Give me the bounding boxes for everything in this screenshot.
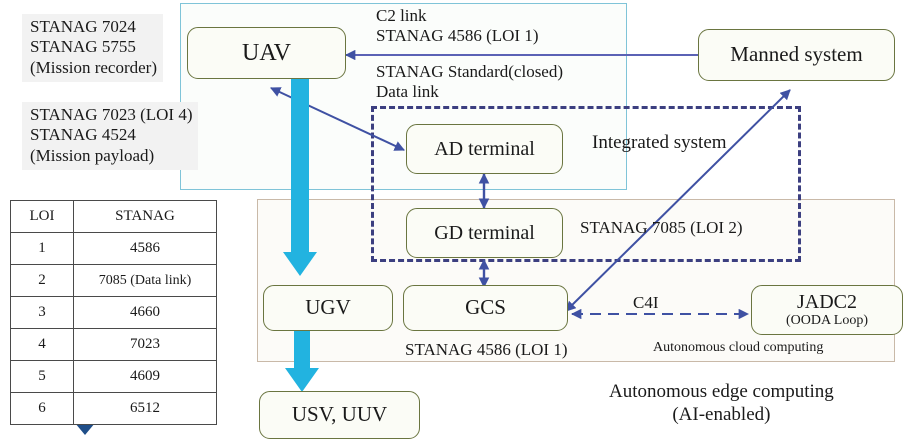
cell-stanag: 4660 [74,297,217,329]
node-usv-uuv[interactable]: USV, UUV [259,391,420,439]
table-row: 3 4660 [11,297,217,329]
label-mission-payload: STANAG 7023 (LOI 4) STANAG 4524 (Mission… [22,102,198,170]
cell-stanag: 7085 (Data link) [74,265,217,297]
table-row: 6 6512 [11,393,217,425]
node-ugv-label: UGV [305,296,351,320]
cell-loi: 1 [11,233,74,265]
node-gcs-label: GCS [465,296,506,320]
node-uav-label: UAV [242,40,291,67]
table-row: 5 4609 [11,361,217,393]
label-c2-link: C2 link STANAG 4586 (LOI 1) [376,6,538,47]
cell-stanag: 4586 [74,233,217,265]
cell-stanag: 6512 [74,393,217,425]
node-manned-system-label: Manned system [730,43,862,67]
node-manned-system[interactable]: Manned system [698,29,895,81]
label-autonomous-edge-computing: Autonomous edge computing (AI-enabled) [609,381,834,427]
node-ugv[interactable]: UGV [263,285,393,331]
cell-loi: 4 [11,329,74,361]
cell-loi: 6 [11,393,74,425]
table-header-row: LOI STANAG [11,201,217,233]
table-header-stanag: STANAG [74,201,217,233]
label-mission-recorder: STANAG 7024 STANAG 5755 (Mission recorde… [22,14,163,82]
cell-loi: 3 [11,297,74,329]
label-c4i: C4I [633,293,659,313]
diagram-canvas: UAV Manned system AD terminal GD termina… [0,0,919,447]
node-gd-terminal-label: GD terminal [434,222,535,244]
table-row: 4 7023 [11,329,217,361]
label-integrated-system: Integrated system [592,132,727,155]
label-stanag-7085: STANAG 7085 (LOI 2) [580,218,742,238]
cell-loi: 2 [11,265,74,297]
cell-stanag: 7023 [74,329,217,361]
node-ad-terminal[interactable]: AD terminal [406,124,563,174]
node-usv-uuv-label: USV, UUV [292,403,387,427]
node-gcs[interactable]: GCS [403,285,568,331]
table-row: 1 4586 [11,233,217,265]
loi-stanag-table: LOI STANAG 1 4586 2 7085 (Data link) 3 4… [10,200,217,425]
table-header-loi: LOI [11,201,74,233]
label-autonomous-cloud-computing: Autonomous cloud computing [653,340,823,357]
node-jadc2-label: JADC2 [797,291,857,313]
node-jadc2-sublabel: (OODA Loop) [786,313,868,329]
node-jadc2[interactable]: JADC2 (OODA Loop) [751,285,903,335]
node-gd-terminal[interactable]: GD terminal [406,208,563,258]
cell-stanag: 4609 [74,361,217,393]
label-stanag-4586-loi1: STANAG 4586 (LOI 1) [405,340,567,360]
node-ad-terminal-label: AD terminal [434,138,535,160]
label-data-link: STANAG Standard(closed) Data link [376,62,563,103]
node-uav[interactable]: UAV [187,27,346,79]
table-row: 2 7085 (Data link) [11,265,217,297]
cell-loi: 5 [11,361,74,393]
